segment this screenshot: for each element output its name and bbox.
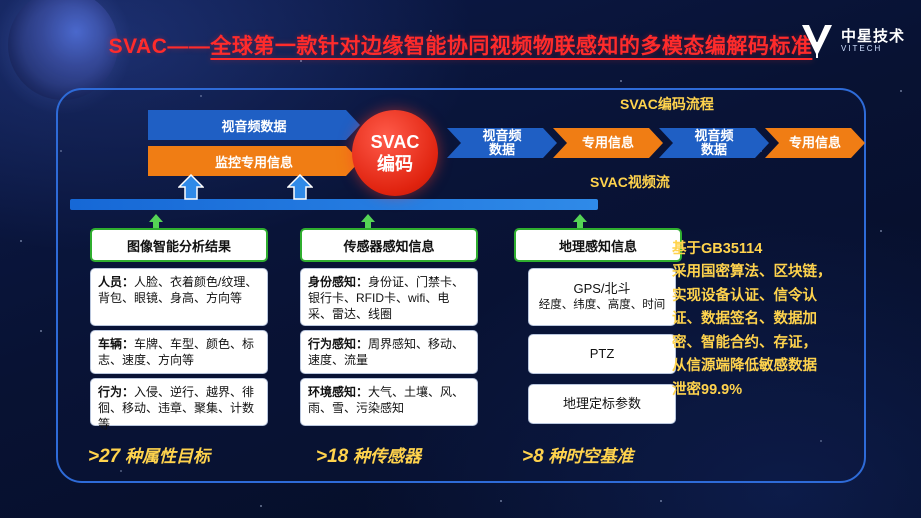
page-title: SVAC——全球第一款针对边缘智能协同视频物联感知的多模态编解码标准 [0, 30, 921, 60]
stream-chevron-line1: 视音频 [482, 129, 521, 143]
up-arrow-icon-1 [178, 174, 204, 200]
page-title-main: 全球第一款针对边缘智能协同视频物联感知的多模态编解码标准 [210, 35, 812, 58]
chevron-surveillance-info: 监控专用信息 [148, 146, 360, 176]
chevron-video-audio-data: 视音频数据 [148, 110, 360, 140]
chevron-label: 监控专用信息 [215, 152, 293, 171]
svac-circle-line2: 编码 [377, 153, 413, 176]
item-label: 行为： [98, 385, 134, 399]
logo-text-en: VITECH [841, 45, 905, 53]
stream-chevron-1: 视音频 数据 [447, 128, 557, 158]
stream-chevron-line2: 数据 [482, 143, 521, 157]
item-label: 环境感知： [308, 385, 368, 399]
item-label: 人员： [98, 275, 134, 289]
security-description-panel: 基于GB35114 采用国密算法、区块链， 实现设备认证、信令认 证、数据签名、… [672, 238, 867, 402]
security-line-6: 从信源端降低敏感数据 [672, 355, 867, 378]
stream-chevron-line1: 视音频 [694, 129, 733, 143]
caption-number: >18 [316, 446, 348, 467]
chevron-label: 视音频数据 [221, 116, 286, 135]
item-vehicle: 车辆：车牌、车型、颜色、标志、速度、方向等 [90, 330, 268, 374]
caption-number: >27 [88, 446, 120, 467]
svac-circle-line1: SVAC [371, 131, 420, 154]
security-line-5: 密、智能合约、存证， [672, 332, 867, 355]
item-environment-sensing: 环境感知：大气、土壤、风、雨、雪、污染感知 [300, 378, 478, 426]
security-line-1: 基于GB35114 [672, 238, 867, 261]
column-header-image-analysis: 图像智能分析结果 [90, 228, 268, 262]
caption-attribute-targets: >27 种属性目标 [88, 442, 210, 468]
stream-chevron-3: 视音频 数据 [659, 128, 769, 158]
stream-chevron-line1: 专用信息 [789, 136, 841, 150]
caption-text: 种时空基准 [548, 447, 633, 466]
caption-sensors: >18 种传感器 [316, 442, 421, 468]
item-personnel: 人员：人脸、衣着颜色/纹理、背包、眼镜、身高、方向等 [90, 268, 268, 326]
caption-spatiotemporal: >8 种时空基准 [522, 442, 633, 468]
item-title: PTZ [590, 345, 615, 363]
security-line-3: 实现设备认证、信令认 [672, 285, 867, 308]
item-label: 身份感知： [308, 275, 368, 289]
item-gps-beidou: GPS/北斗 经度、纬度、高度、时间 [528, 268, 676, 326]
stream-chevron-2: 专用信息 [553, 128, 663, 158]
slide-background: SVAC——全球第一款针对边缘智能协同视频物联感知的多模态编解码标准 中星技术 … [0, 0, 921, 518]
stream-baseline-bar [70, 199, 598, 210]
item-geo-calibration: 地理定标参数 [528, 384, 676, 424]
caption-text: 种属性目标 [125, 447, 210, 466]
brand-logo: 中星技术 VITECH [800, 22, 905, 60]
logo-text-cn: 中星技术 [841, 29, 905, 45]
item-ptz: PTZ [528, 334, 676, 374]
item-title: 地理定标参数 [563, 395, 641, 413]
security-line-2: 采用国密算法、区块链， [672, 261, 867, 284]
stream-chevron-4: 专用信息 [765, 128, 865, 158]
label-svac-encode-flow: SVAC编码流程 [620, 94, 714, 114]
item-identity-sensing: 身份感知：身份证、门禁卡、银行卡、RFID卡、wifi、电采、雷达、线圈 [300, 268, 478, 326]
item-label: 行为感知： [308, 337, 368, 351]
caption-text: 种传感器 [353, 447, 421, 466]
security-line-4: 证、数据签名、数据加 [672, 308, 867, 331]
stream-chevron-line1: 专用信息 [582, 136, 634, 150]
page-title-prefix: SVAC—— [109, 35, 211, 58]
column-header-geo-info: 地理感知信息 [514, 228, 682, 262]
item-behavior-sensing: 行为感知：周界感知、移动、速度、流量 [300, 330, 478, 374]
caption-number: >8 [522, 446, 544, 467]
item-label: 车辆： [98, 337, 134, 351]
item-detail: 经度、纬度、高度、时间 [539, 298, 666, 314]
security-line-7: 泄密99.9% [672, 379, 867, 402]
label-svac-video-stream: SVAC视频流 [590, 172, 670, 192]
stream-chevron-line2: 数据 [694, 143, 733, 157]
column-header-sensor-info: 传感器感知信息 [300, 228, 478, 262]
up-arrow-icon-2 [287, 174, 313, 200]
item-title: GPS/北斗 [573, 280, 630, 298]
item-behavior: 行为：入侵、逆行、越界、徘徊、移动、违章、聚集、计数等 [90, 378, 268, 426]
svac-encode-circle: SVAC 编码 [352, 110, 438, 196]
vitech-v-icon [800, 22, 834, 60]
